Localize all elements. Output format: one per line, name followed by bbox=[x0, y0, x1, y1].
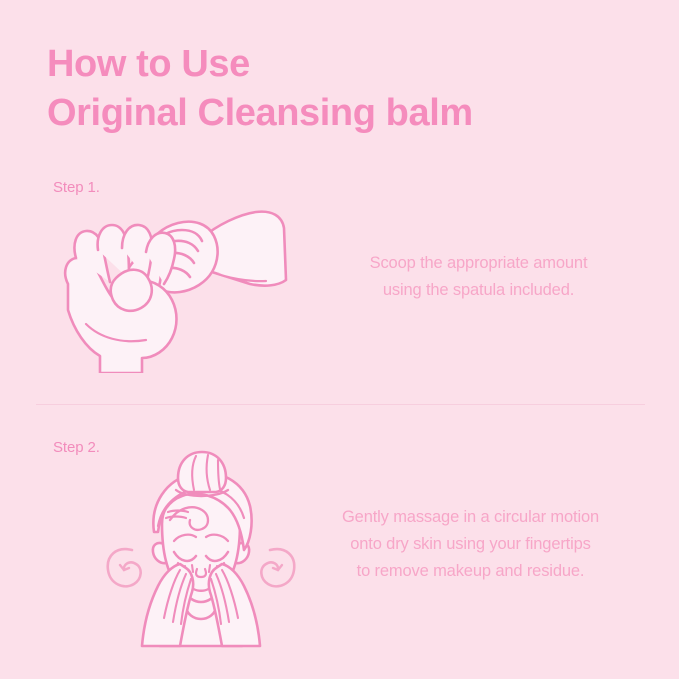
step-1-text-line-1: Scoop the appropriate amount bbox=[326, 250, 631, 277]
step-2-text-line-1: Gently massage in a circular motion bbox=[298, 504, 643, 531]
step-1-label: Step 1. bbox=[53, 178, 100, 198]
title-line-2: Original Cleansing balm bbox=[47, 89, 607, 138]
step-2-description: Gently massage in a circular motion onto… bbox=[298, 504, 643, 585]
section-divider bbox=[36, 404, 645, 405]
hand-scooping-balm-with-spatula-icon bbox=[42, 198, 302, 378]
how-to-use-infographic: How to Use Original Cleansing balm Step … bbox=[0, 0, 679, 679]
woman-massaging-face-icon bbox=[100, 446, 300, 656]
step-1-text-line-2: using the spatula included. bbox=[326, 277, 631, 304]
title-line-1: How to Use bbox=[47, 40, 607, 89]
step-1-description: Scoop the appropriate amount using the s… bbox=[326, 250, 631, 304]
step-2-text-line-2: onto dry skin using your fingertips bbox=[298, 531, 643, 558]
page-title: How to Use Original Cleansing balm bbox=[47, 40, 607, 138]
step-2-section: Step 2. bbox=[0, 438, 679, 653]
step-2-label: Step 2. bbox=[53, 438, 100, 458]
step-1-section: Step 1. bbox=[0, 178, 679, 388]
step-2-text-line-3: to remove makeup and residue. bbox=[298, 558, 643, 585]
